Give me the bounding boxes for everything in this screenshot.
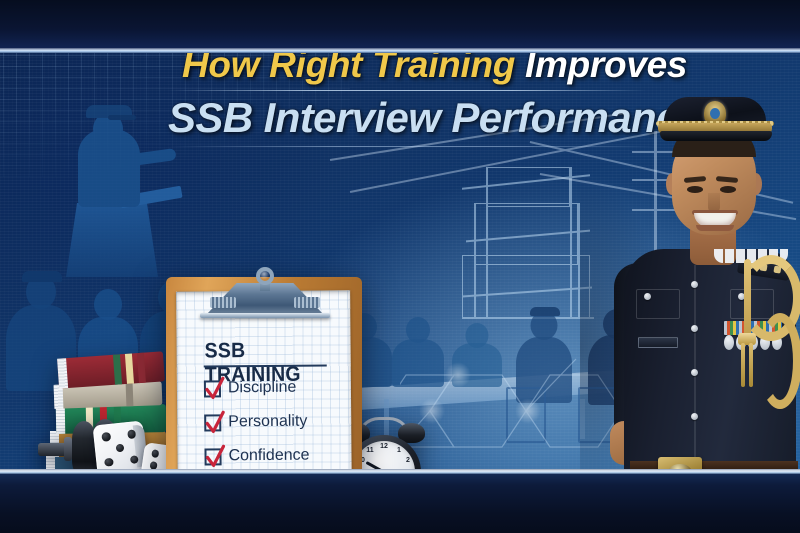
checklist-item-label: Confidence [228, 447, 309, 466]
aiguillette-loop [758, 313, 800, 409]
uniform-button [691, 325, 698, 332]
network-node-glow [444, 361, 472, 389]
checklist-item-discipline[interactable]: Discipline [204, 379, 297, 398]
officer-eye-left [687, 186, 703, 193]
check-icon [204, 376, 226, 400]
bottom-border-band [0, 469, 800, 533]
checkbox[interactable] [204, 448, 221, 465]
check-icon [204, 444, 226, 468]
uniform-pocket-left [636, 289, 680, 319]
uniform-button [691, 369, 698, 376]
clock-numeral: 11 [365, 447, 375, 454]
uniform-button [691, 413, 698, 420]
checklist-item-confidence[interactable]: Confidence [204, 447, 309, 466]
officer-nametag [638, 337, 678, 348]
clip-ring [256, 267, 274, 285]
book-stripe [137, 353, 146, 383]
headline-divider-upper [168, 90, 646, 91]
headline-divider-lower [168, 146, 658, 147]
checklist-item-label: Discipline [228, 379, 297, 398]
clip-bar [200, 313, 330, 318]
clock-numeral: 12 [379, 443, 389, 450]
cap-peak [660, 131, 772, 141]
uniform-button [691, 281, 698, 288]
checkbox[interactable] [204, 414, 221, 431]
ssb-training-banner: 12 1 2 3 4 5 6 7 8 9 10 11 SSB TRAINING [0, 0, 800, 533]
clip-ridge-right [294, 297, 320, 308]
network-node-glow [514, 397, 542, 425]
bottom-divider-line [0, 469, 800, 474]
checklist-item-label: Personality [228, 413, 307, 432]
clipboard: SSB TRAINING Discipline [166, 277, 362, 469]
die [93, 421, 148, 469]
officer-eye-right [720, 186, 736, 193]
aiguillette-cord [744, 259, 751, 337]
clip-ridge-left [210, 297, 236, 308]
figure-head [466, 323, 489, 348]
aiguillette-tail [749, 343, 753, 387]
checklist-item-personality[interactable]: Personality [204, 413, 307, 432]
army-officer-portrait [610, 53, 800, 469]
book-stripe [113, 354, 122, 384]
book-pages [57, 358, 68, 389]
officer-peaked-cap [652, 97, 778, 141]
figure-cap [22, 271, 62, 282]
die-top-face [93, 421, 148, 469]
clock-numeral: 1 [394, 447, 404, 454]
book-stripe [126, 382, 134, 406]
dumbbell-collar [64, 437, 72, 461]
uniform-placket [694, 265, 696, 465]
figure-head [94, 289, 122, 320]
officer-lower-lip [696, 225, 734, 231]
figure-cap [530, 307, 560, 316]
top-border-band [0, 0, 800, 53]
top-divider-line [0, 48, 800, 53]
checkbox[interactable] [204, 380, 221, 397]
officer-belt [630, 461, 798, 469]
pocket-button [644, 293, 651, 300]
silhouette-cap-peak [108, 115, 136, 120]
officer-aiguillette [730, 249, 800, 449]
aiguillette-tail [741, 343, 745, 387]
book-stripe [125, 354, 134, 384]
check-icon [204, 410, 226, 434]
clock-numeral: 2 [403, 457, 413, 464]
cap-badge-center [710, 108, 720, 119]
figure-head [406, 317, 430, 343]
